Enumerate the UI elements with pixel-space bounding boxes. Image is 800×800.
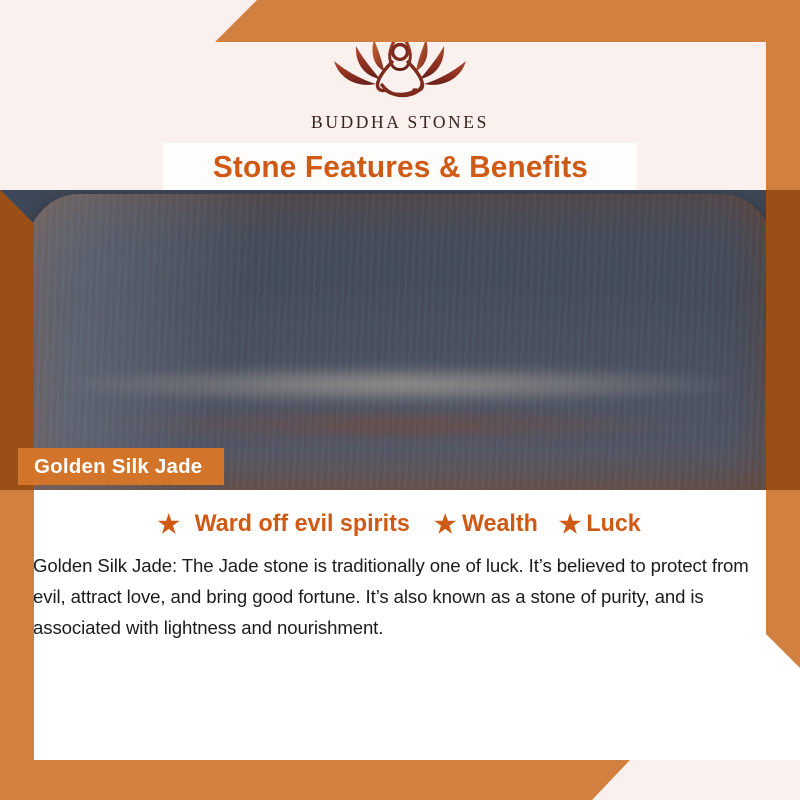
frame-top (215, 0, 800, 42)
benefits-list: Ward off evil spirits Wealth Luck (0, 510, 800, 538)
body-panel: Ward off evil spirits Wealth Luck Golden… (0, 490, 800, 760)
frame-left-overlay (0, 190, 34, 490)
infographic-card: BUDDHA STONES Stone Features & Benefits … (0, 0, 800, 800)
stone-band-light (52, 365, 748, 404)
benefit-item: Luck (559, 510, 642, 538)
frame-right-overlay (766, 190, 800, 490)
description-text: Golden Silk Jade: The Jade stone is trad… (33, 550, 773, 643)
brand-name: BUDDHA STONES (0, 112, 800, 133)
golden-silk-jade-stone-photo (22, 194, 778, 490)
benefit-label: Wealth (462, 510, 538, 538)
benefit-item: Wealth (434, 510, 540, 538)
benefit-label: Luck (586, 510, 640, 538)
page-title: Stone Features & Benefits (212, 149, 587, 185)
stone-name-tag: Golden Silk Jade (18, 448, 224, 485)
star-icon (158, 513, 180, 535)
stone-sheen (22, 194, 778, 490)
stone-band-dark (98, 410, 703, 440)
star-icon (434, 513, 456, 535)
benefit-item: Ward off evil spirits (158, 510, 415, 538)
benefit-label: Ward off evil spirits (194, 510, 409, 538)
star-icon (559, 513, 581, 535)
stone-name-label: Golden Silk Jade (34, 455, 202, 479)
stone-photo (0, 190, 800, 490)
frame-bottom (0, 760, 630, 800)
title-banner: Stone Features & Benefits (163, 143, 637, 190)
